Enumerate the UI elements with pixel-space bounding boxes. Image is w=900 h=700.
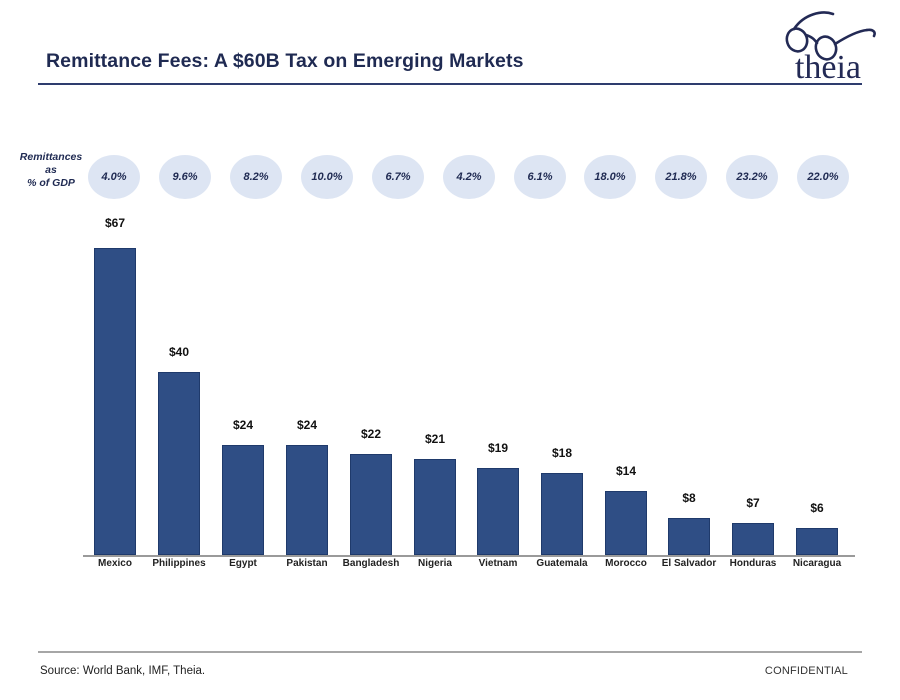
bar-value-label: $7 <box>721 496 785 510</box>
source-note: Source: World Bank, IMF, Theia. <box>40 665 205 677</box>
bar-value-label: $19 <box>466 441 530 455</box>
bar-slot: $8 <box>657 225 721 555</box>
x-tick-label: Nicaragua <box>774 558 860 569</box>
bar-value-label: $21 <box>403 432 467 446</box>
row-label-line-2: as <box>8 164 94 177</box>
bar-slot: $40 <box>147 225 211 555</box>
remittance-pct-row: Remittances as % of GDP 4.0% 9.6% 8.2% 1… <box>0 155 900 201</box>
bar-value-label: $22 <box>339 427 403 441</box>
title-divider <box>38 83 862 85</box>
bar-nicaragua[interactable] <box>796 528 838 555</box>
slide-canvas: theia Remittance Fees: A $60B Tax on Eme… <box>0 0 900 700</box>
bar-honduras[interactable] <box>732 523 774 555</box>
page-title: Remittance Fees: A $60B Tax on Emerging … <box>46 50 524 73</box>
pct-bubble: 22.0% <box>797 155 849 199</box>
bar-guatemala[interactable] <box>541 473 583 555</box>
bar-slot: $7 <box>721 225 785 555</box>
pct-bubble: 23.2% <box>726 155 778 199</box>
pct-bubble: 8.2% <box>230 155 282 199</box>
row-label-line-1: Remittances <box>8 151 94 164</box>
pct-bubble: 6.7% <box>372 155 424 199</box>
bar-slot: $21 <box>403 225 467 555</box>
bar-value-label: $6 <box>785 501 849 515</box>
bar-value-label: $24 <box>211 418 275 432</box>
pct-bubble: 6.1% <box>514 155 566 199</box>
pct-bubble: 4.0% <box>88 155 140 199</box>
bar-value-label: $8 <box>657 491 721 505</box>
bar-value-label: $40 <box>147 345 211 359</box>
bar-pakistan[interactable] <box>286 445 328 555</box>
bar-slot: $6 <box>785 225 849 555</box>
bar-slot: $18 <box>530 225 594 555</box>
logo-wordmark: theia <box>795 49 861 84</box>
pct-bubble: 21.8% <box>655 155 707 199</box>
row-label-line-3: % of GDP <box>8 177 94 190</box>
bar-slot: $14 <box>594 225 658 555</box>
bar-value-label: $67 <box>83 216 147 230</box>
bar-philippines[interactable] <box>158 372 200 555</box>
bar-vietnam[interactable] <box>477 468 519 555</box>
bar-slot: $19 <box>466 225 530 555</box>
bar-slot: $24 <box>211 225 275 555</box>
pct-bubble: 18.0% <box>584 155 636 199</box>
bar-bangladesh[interactable] <box>350 454 392 555</box>
x-axis-line <box>83 555 855 557</box>
remittance-pct-row-label: Remittances as % of GDP <box>8 151 94 190</box>
footer-divider <box>38 651 862 653</box>
bar-egypt[interactable] <box>222 445 264 555</box>
bar-slot: $67 <box>83 225 147 555</box>
pct-bubble: 4.2% <box>443 155 495 199</box>
bar-slot: $24 <box>275 225 339 555</box>
bar-value-label: $18 <box>530 446 594 460</box>
bar-morocco[interactable] <box>605 491 647 555</box>
bar-chart-plot: $67 $40 $24 $24 $22 $21 $19 $18 <box>0 225 900 555</box>
bar-slot: $22 <box>339 225 403 555</box>
pct-bubble: 9.6% <box>159 155 211 199</box>
bar-value-label: $24 <box>275 418 339 432</box>
bar-mexico[interactable] <box>94 248 136 555</box>
bar-nigeria[interactable] <box>414 459 456 555</box>
bar-el-salvador[interactable] <box>668 518 710 555</box>
confidentiality-label: CONFIDENTIAL <box>765 665 848 677</box>
eyeglasses-icon: theia <box>770 4 890 84</box>
theia-logo: theia <box>770 4 890 84</box>
bar-value-label: $14 <box>594 464 658 478</box>
pct-bubble: 10.0% <box>301 155 353 199</box>
